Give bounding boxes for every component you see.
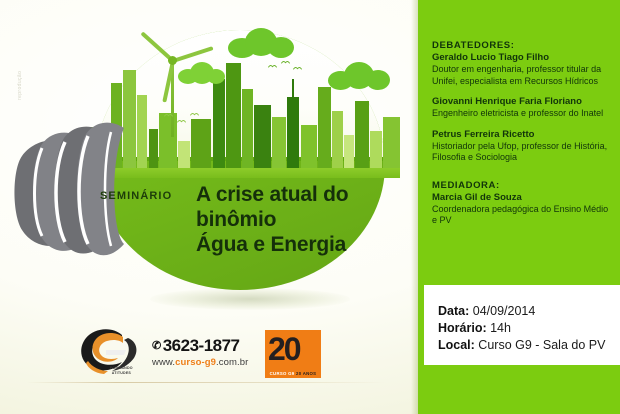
- event-time-row: Horário: 14h: [438, 320, 605, 337]
- speaker-description: Historiador pela Ufop, professor de Hist…: [432, 141, 612, 164]
- debaters-heading: DEBATEDORES:: [432, 40, 612, 51]
- phone-value: 3623-1877: [163, 336, 240, 355]
- speakers-list: DEBATEDORES: Geraldo Lucio Tiago Filho D…: [432, 40, 612, 236]
- speaker-description: Doutor em engenharia, professor titular …: [432, 64, 612, 87]
- anniversary-badge: 20 CURSO G9 20 ANOS: [265, 330, 321, 378]
- seminar-kicker: SEMINÁRIO: [100, 190, 172, 202]
- event-place-label: Local:: [438, 338, 475, 352]
- website-url[interactable]: www.curso-g9.com.br: [152, 357, 282, 368]
- lightbulb-illustration: [0, 0, 420, 330]
- mediator-name: Marcia Gil de Souza: [432, 192, 612, 204]
- event-time-value: 14h: [490, 321, 511, 335]
- speaker-name: Giovanni Henrique Faria Floriano: [432, 96, 612, 108]
- bird-icon: [164, 113, 173, 118]
- mediator-heading: MEDIADORA:: [432, 180, 612, 191]
- panel-left-shadow: [411, 0, 418, 414]
- anniversary-subtitle: CURSO G9 20 ANOS: [267, 371, 319, 376]
- website-prefix: www.: [152, 357, 175, 368]
- bulb-shadow: [150, 288, 350, 310]
- speaker-description: Engenheiro eletricista e professor do In…: [432, 108, 612, 120]
- bird-icon: [268, 64, 277, 69]
- speaker-entry: Giovanni Henrique Faria Floriano Engenhe…: [432, 96, 612, 120]
- anniversary-sub-prefix: CURSO G9: [270, 371, 296, 376]
- wind-turbine-icon: [133, 37, 213, 137]
- speaker-entry: Geraldo Lucio Tiago Filho Doutor em enge…: [432, 52, 612, 87]
- bird-icon: [177, 119, 186, 124]
- speaker-entry: Petrus Ferreira Ricetto Historiador pela…: [432, 129, 612, 164]
- event-place-row: Local: Curso G9 - Sala do PV: [438, 337, 605, 354]
- bird-icon: [281, 60, 290, 65]
- title-line-2: binômio: [196, 207, 348, 232]
- g9-logo-tagline: FORMANDO ATITUDES: [110, 366, 133, 375]
- event-date-value: 04/09/2014: [473, 304, 536, 318]
- bird-icon: [293, 66, 302, 71]
- title-line-1: A crise atual do: [196, 182, 348, 207]
- anniversary-number: 20: [268, 332, 300, 366]
- website-suffix: .com.br: [216, 357, 248, 368]
- mediator-description: Coordenadora pedagógica do Ensino Médio …: [432, 204, 612, 227]
- anniversary-sub-highlight: 20 ANOS: [296, 371, 316, 376]
- bird-icon: [190, 112, 199, 117]
- g9-logo: FORMANDO ATITUDES: [76, 328, 146, 384]
- speaker-name: Geraldo Lucio Tiago Filho: [432, 52, 612, 64]
- page-title: A crise atual do binômio Água e Energia: [196, 182, 348, 257]
- contact-block: ✆3623-1877 www.curso-g9.com.br: [152, 336, 282, 368]
- speaker-name: Petrus Ferreira Ricetto: [432, 129, 612, 141]
- poster-canvas: reprodução: [0, 0, 620, 414]
- event-date-label: Data:: [438, 304, 469, 318]
- phone-number: ✆3623-1877: [152, 336, 282, 356]
- phone-icon: ✆: [152, 339, 161, 352]
- mediator-entry: Marcia Gil de Souza Coordenadora pedagóg…: [432, 192, 612, 227]
- event-place-value: Curso G9 - Sala do PV: [478, 338, 605, 352]
- event-date-row: Data: 04/09/2014: [438, 303, 605, 320]
- event-time-label: Horário:: [438, 321, 487, 335]
- event-info-box: Data: 04/09/2014 Horário: 14h Local: Cur…: [424, 285, 620, 365]
- title-line-3: Água e Energia: [196, 232, 348, 257]
- website-highlight: curso-g9: [175, 357, 216, 368]
